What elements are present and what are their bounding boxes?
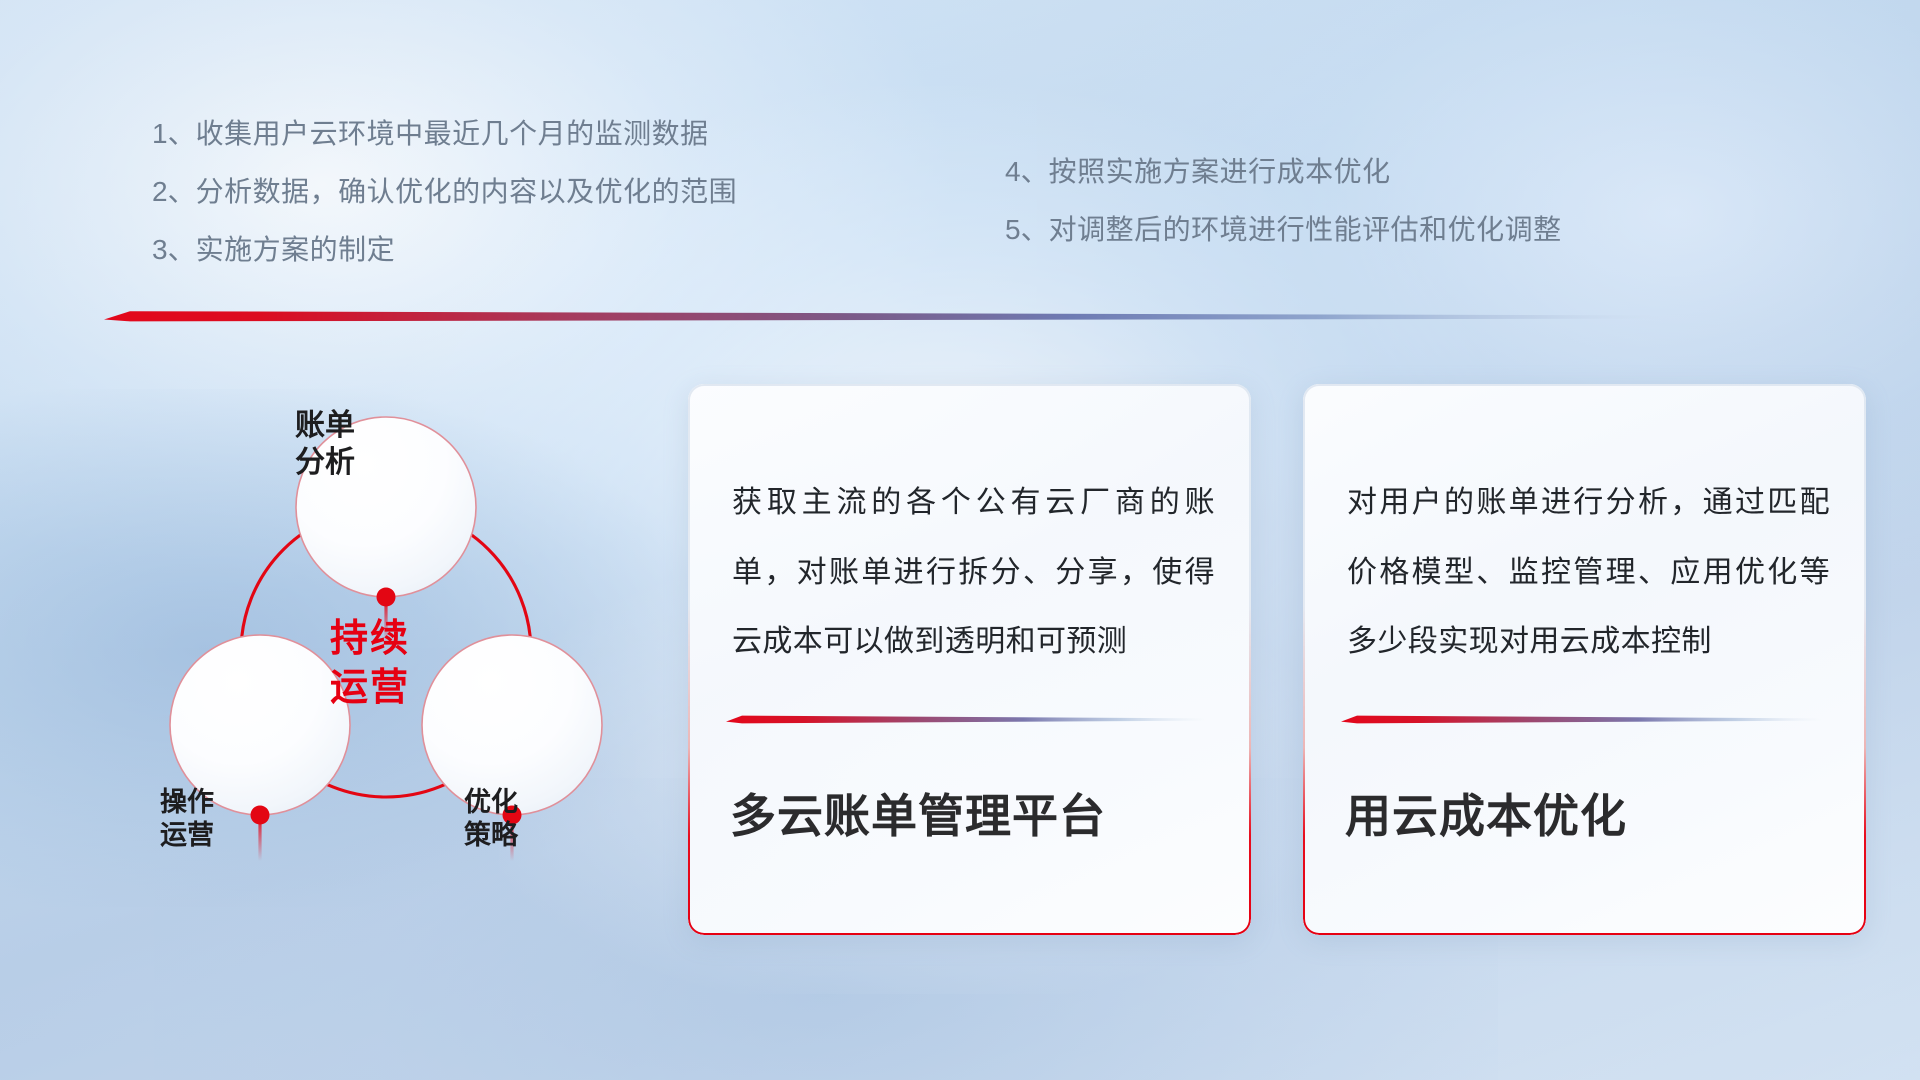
step-number-5: 5、 [1005, 214, 1049, 245]
node-dot-top [377, 588, 396, 607]
card-description: 对用户的账单进行分析，通过匹配价格模型、监控管理、应用优化等多少段实现对用云成本… [1347, 468, 1830, 677]
step-text-2: 分析数据，确认优化的内容以及优化的范围 [196, 176, 738, 207]
step-text-3: 实施方案的制定 [196, 234, 396, 265]
card-description: 获取主流的各个公有云厂商的账单，对账单进行拆分、分享，使得云成本可以做到透明和可… [732, 468, 1215, 677]
section-divider [104, 308, 1664, 326]
card-accent-rule [1341, 714, 1821, 725]
step-number-3: 3、 [152, 234, 196, 265]
card-multi-cloud-billing[interactable]: 获取主流的各个公有云厂商的账单，对账单进行拆分、分享，使得云成本可以做到透明和可… [688, 384, 1251, 935]
node-dot-right [503, 806, 522, 825]
bubble-left [170, 635, 350, 815]
step-item-1: 1、收集用户云环境中最近几个月的监测数据 [152, 120, 737, 148]
card-accent-rule [726, 714, 1206, 725]
step-text-4: 按照实施方案进行成本优化 [1049, 156, 1391, 187]
bubble-right [422, 635, 602, 815]
bubble-top [296, 417, 476, 597]
card-cloud-cost-optimization[interactable]: 对用户的账单进行分析，通过匹配价格模型、监控管理、应用优化等多少段实现对用云成本… [1303, 384, 1866, 935]
step-list-right: 4、按照实施方案进行成本优化 5、对调整后的环境进行性能评估和优化调整 [1005, 158, 1562, 244]
node-dot-left [251, 806, 270, 825]
step-item-2: 2、分析数据，确认优化的内容以及优化的范围 [152, 178, 737, 206]
step-item-5: 5、对调整后的环境进行性能评估和优化调整 [1005, 216, 1562, 244]
card-title: 多云账单管理平台 [730, 780, 1221, 846]
card-title: 用云成本优化 [1345, 780, 1836, 846]
step-item-4: 4、按照实施方案进行成本优化 [1005, 158, 1562, 186]
step-number-2: 2、 [152, 176, 196, 207]
step-list-left: 1、收集用户云环境中最近几个月的监测数据 2、分析数据，确认优化的内容以及优化的… [152, 120, 737, 264]
step-number-4: 4、 [1005, 156, 1049, 187]
step-text-5: 对调整后的环境进行性能评估和优化调整 [1049, 214, 1562, 245]
step-number-1: 1、 [152, 118, 196, 149]
continuous-operation-diagram [96, 352, 676, 952]
step-item-3: 3、实施方案的制定 [152, 236, 737, 264]
step-text-1: 收集用户云环境中最近几个月的监测数据 [196, 118, 709, 149]
